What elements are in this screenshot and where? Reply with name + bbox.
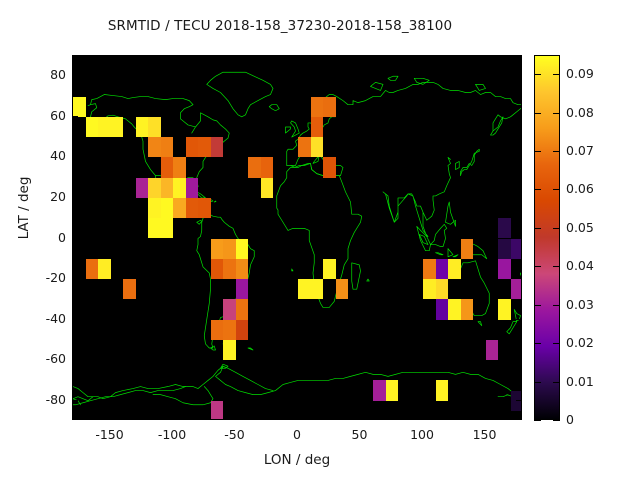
heatmap-cell: [236, 239, 249, 259]
heatmap-cell: [161, 218, 174, 238]
colorbar-tick-label: 0.04: [566, 258, 626, 273]
heatmap-cell: [186, 198, 199, 218]
colorbar-tick-label: 0: [566, 412, 626, 427]
colorbar-tick-mark: [553, 305, 560, 306]
heatmap-cell: [173, 198, 186, 218]
heatmap-cell: [98, 117, 111, 137]
x-tick-label: -100: [142, 427, 202, 442]
x-tick-mark: [110, 414, 111, 420]
y-tick-mark: [72, 319, 78, 320]
colorbar-tick-mark: [553, 228, 560, 229]
heatmap-cell: [298, 137, 311, 157]
heatmap-cell: [423, 279, 436, 299]
heatmap-cell: [436, 259, 449, 279]
y-tick-mark: [516, 278, 522, 279]
heatmap-cell: [186, 137, 199, 157]
x-tick-mark: [172, 55, 173, 61]
heatmap-cell: [423, 259, 436, 279]
heatmap-cell: [223, 340, 236, 360]
heatmap-cell: [86, 117, 99, 137]
colorbar-tick-mark: [553, 189, 560, 190]
colorbar-tick-mark: [553, 420, 560, 421]
heatmap-cell: [336, 279, 349, 299]
heatmap-cell: [211, 320, 224, 340]
heatmap-cells: [73, 56, 521, 419]
y-tick-label: -20: [20, 270, 66, 285]
heatmap-cell: [211, 239, 224, 259]
x-tick-label: 0: [267, 427, 327, 442]
y-tick-mark: [516, 359, 522, 360]
heatmap-cell: [261, 157, 274, 177]
heatmap-cell: [148, 117, 161, 137]
heatmap-cell: [311, 117, 324, 137]
heatmap-cell: [136, 178, 149, 198]
y-tick-mark: [516, 400, 522, 401]
heatmap-cell: [86, 259, 99, 279]
colorbar-tick-label: 0.05: [566, 220, 626, 235]
heatmap-cell: [311, 279, 324, 299]
heatmap-cell: [223, 239, 236, 259]
heatmap-cell: [323, 97, 336, 117]
heatmap-cell: [236, 299, 249, 319]
colorbar-tick-label: 0.02: [566, 335, 626, 350]
colorbar-tick-mark: [534, 189, 541, 190]
heatmap-cell: [511, 279, 522, 299]
heatmap-cell: [186, 178, 199, 198]
heatmap-cell: [486, 340, 499, 360]
x-tick-mark: [485, 55, 486, 61]
x-tick-mark: [422, 55, 423, 61]
x-tick-mark: [235, 414, 236, 420]
heatmap-cell: [311, 97, 324, 117]
y-tick-mark: [72, 400, 78, 401]
x-tick-mark: [360, 55, 361, 61]
heatmap-cell: [248, 157, 261, 177]
y-tick-label: 80: [20, 67, 66, 82]
colorbar-tick-mark: [553, 151, 560, 152]
colorbar-gradient: [535, 56, 559, 419]
heatmap-cell: [161, 137, 174, 157]
heatmap-cell: [436, 279, 449, 299]
x-tick-mark: [360, 414, 361, 420]
colorbar-tick-mark: [553, 343, 560, 344]
heatmap-cell: [498, 239, 511, 259]
colorbar-tick-label: 0.03: [566, 297, 626, 312]
x-axis-label: LON / deg: [72, 452, 522, 468]
heatmap-cell: [211, 401, 224, 419]
colorbar-tick-mark: [534, 305, 541, 306]
heatmap-cell: [223, 259, 236, 279]
heatmap-cell: [461, 239, 474, 259]
heatmap-cell: [161, 198, 174, 218]
heatmap-cell: [236, 320, 249, 340]
heatmap-cell: [161, 178, 174, 198]
x-tick-mark: [297, 55, 298, 61]
heatmap-cell: [386, 380, 399, 400]
colorbar-tick-mark: [534, 151, 541, 152]
heatmap-cell: [311, 137, 324, 157]
heatmap-cell: [211, 259, 224, 279]
y-tick-label: -80: [20, 392, 66, 407]
x-tick-label: -50: [205, 427, 265, 442]
heatmap-cell: [223, 299, 236, 319]
heatmap-cell: [211, 137, 224, 157]
heatmap-cell: [198, 137, 211, 157]
colorbar-tick-mark: [534, 113, 541, 114]
heatmap-cell: [148, 178, 161, 198]
colorbar-tick-mark: [553, 113, 560, 114]
heatmap-cell: [98, 259, 111, 279]
y-tick-mark: [516, 238, 522, 239]
colorbar-tick-mark: [534, 420, 541, 421]
heatmap-cell: [298, 279, 311, 299]
heatmap-cell: [73, 97, 86, 117]
y-tick-label: -60: [20, 351, 66, 366]
y-tick-mark: [72, 75, 78, 76]
y-tick-mark: [72, 238, 78, 239]
y-tick-mark: [72, 197, 78, 198]
colorbar-tick-label: 0.08: [566, 105, 626, 120]
colorbar-tick-mark: [534, 382, 541, 383]
y-tick-mark: [516, 319, 522, 320]
y-tick-mark: [72, 116, 78, 117]
colorbar-tick-mark: [534, 228, 541, 229]
heatmap-cell: [198, 198, 211, 218]
colorbar-tick-mark: [553, 74, 560, 75]
heatmap-cell: [498, 259, 511, 279]
heatmap-cell: [173, 157, 186, 177]
x-tick-mark: [485, 414, 486, 420]
y-axis-label: LAT / deg: [16, 158, 32, 258]
y-tick-label: 60: [20, 108, 66, 123]
y-tick-mark: [72, 359, 78, 360]
heatmap-cell: [448, 259, 461, 279]
page-title: SRMTID / TECU 2018-158_37230-2018-158_38…: [0, 18, 560, 34]
colorbar-tick-mark: [553, 266, 560, 267]
colorbar-tick-mark: [534, 343, 541, 344]
heatmap-cell: [148, 198, 161, 218]
heatmap-cell: [323, 157, 336, 177]
heatmap-cell: [161, 157, 174, 177]
heatmap-cell: [236, 279, 249, 299]
plot-figure: SRMTID / TECU 2018-158_37230-2018-158_38…: [0, 0, 640, 480]
heatmap-cell: [123, 279, 136, 299]
heatmap-cell: [261, 178, 274, 198]
y-tick-mark: [72, 278, 78, 279]
colorbar-tick-label: 0.01: [566, 374, 626, 389]
heatmap-cell: [148, 218, 161, 238]
colorbar: [534, 55, 560, 420]
heatmap-cell: [511, 239, 522, 259]
heatmap-cell: [223, 320, 236, 340]
y-tick-mark: [516, 116, 522, 117]
y-tick-mark: [516, 156, 522, 157]
colorbar-tick-mark: [534, 74, 541, 75]
heatmap-cell: [173, 178, 186, 198]
heatmap-cell: [373, 380, 386, 400]
map-clip: [73, 56, 521, 419]
y-tick-label: -40: [20, 311, 66, 326]
colorbar-tick-mark: [553, 382, 560, 383]
heatmap-cell: [436, 299, 449, 319]
y-tick-mark: [516, 197, 522, 198]
colorbar-tick-label: 0.06: [566, 181, 626, 196]
heatmap-cell: [111, 117, 124, 137]
x-tick-label: 150: [455, 427, 515, 442]
map-plot-area[interactable]: [72, 55, 522, 420]
x-tick-mark: [235, 55, 236, 61]
heatmap-cell: [148, 137, 161, 157]
heatmap-cell: [498, 218, 511, 238]
heatmap-cell: [461, 299, 474, 319]
y-tick-mark: [72, 156, 78, 157]
colorbar-tick-label: 0.07: [566, 143, 626, 158]
x-tick-label: -150: [80, 427, 140, 442]
heatmap-cell: [498, 299, 511, 319]
y-tick-mark: [516, 75, 522, 76]
x-tick-mark: [297, 414, 298, 420]
x-tick-mark: [422, 414, 423, 420]
colorbar-tick-mark: [534, 266, 541, 267]
x-tick-mark: [110, 55, 111, 61]
heatmap-cell: [236, 259, 249, 279]
heatmap-cell: [136, 117, 149, 137]
x-tick-label: 50: [330, 427, 390, 442]
x-tick-mark: [172, 414, 173, 420]
colorbar-tick-label: 0.09: [566, 66, 626, 81]
heatmap-cell: [323, 259, 336, 279]
x-tick-label: 100: [392, 427, 452, 442]
heatmap-cell: [448, 299, 461, 319]
heatmap-cell: [436, 380, 449, 400]
